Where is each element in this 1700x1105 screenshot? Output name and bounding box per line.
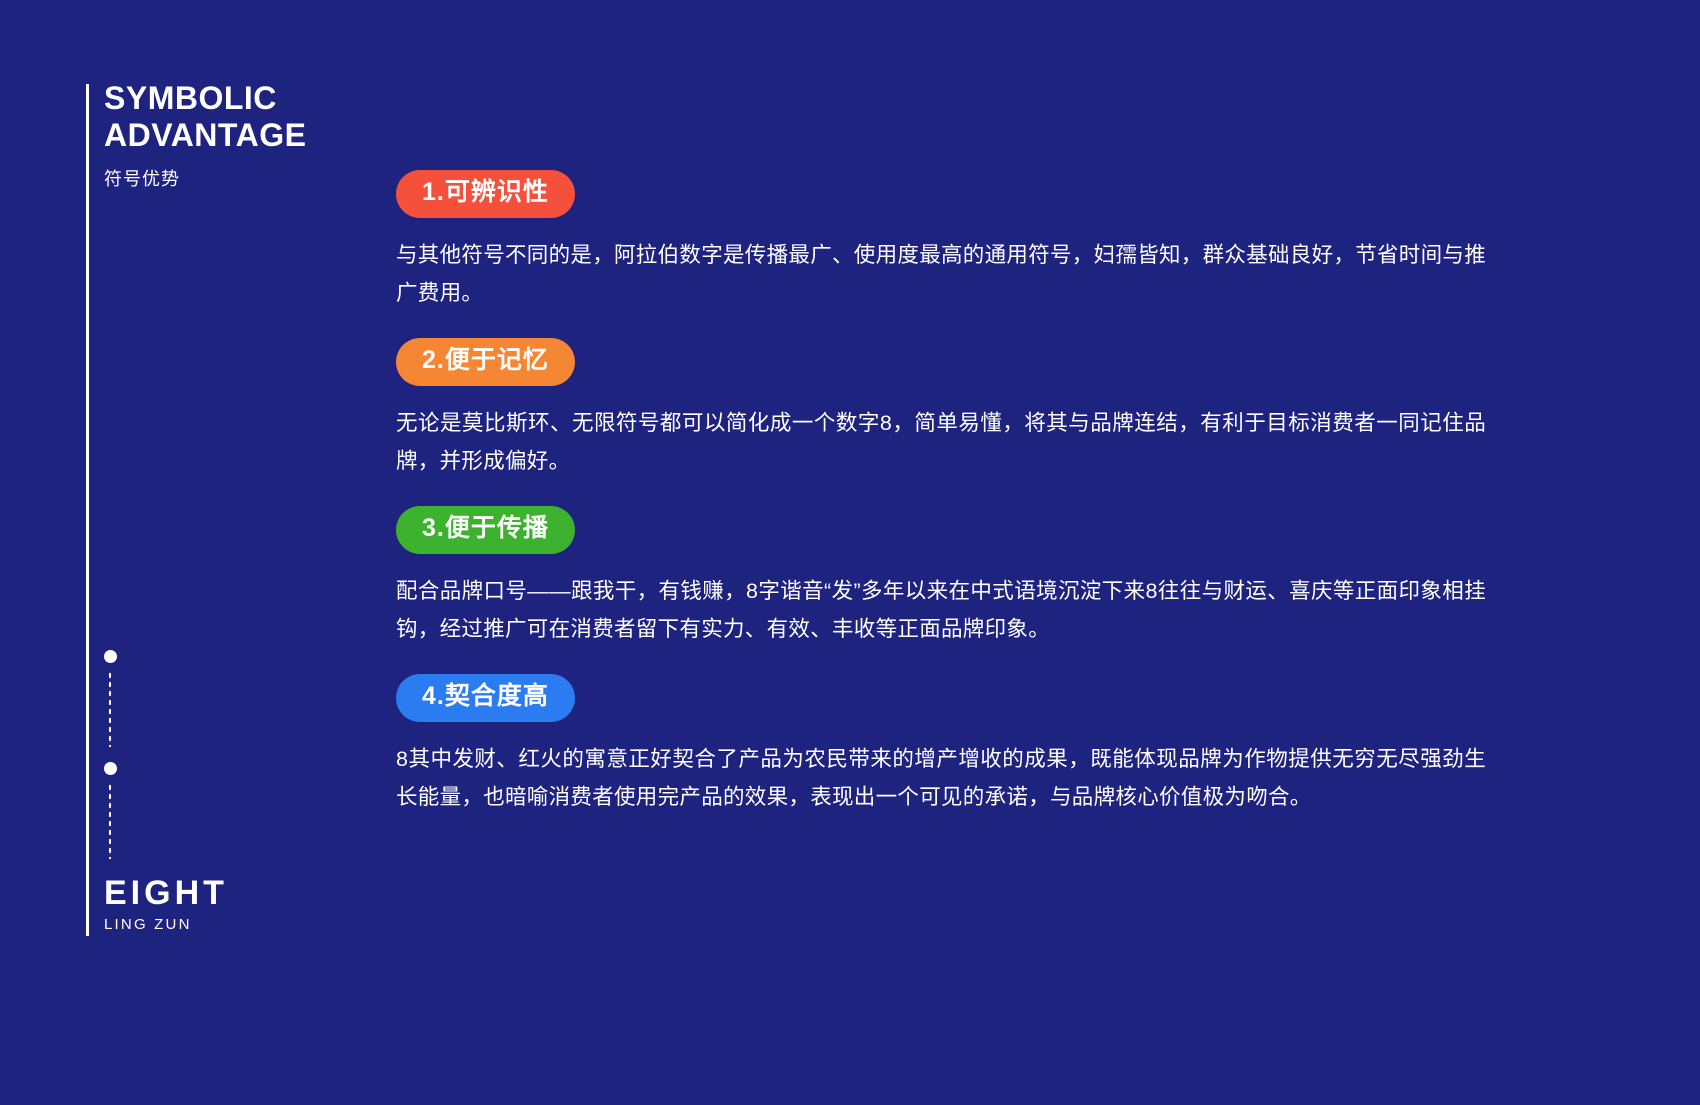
brand-block: EIGHT LING ZUN [104,875,228,933]
left-rail: SYMBOLIC ADVANTAGE 符号优势 EIGHT LING ZUN [0,0,400,1105]
vertical-divider-line [86,84,89,936]
brand-name: EIGHT [104,875,228,912]
section-badge-1: 1.可辨识性 [396,170,575,218]
section-badge-4: 4.契合度高 [396,674,575,722]
page-title-chinese: 符号优势 [104,165,394,191]
brand-subtitle: LING ZUN [104,916,228,933]
section-4: 4.契合度高 8其中发财、红火的寓意正好契合了产品为农民带来的增产增收的成果，既… [396,674,1486,816]
section-body-2: 无论是莫比斯环、无限符号都可以简化成一个数字8，简单易懂，将其与品牌连结，有利于… [396,404,1486,481]
dotted-trail-icon [108,671,112,747]
section-3: 3.便于传播 配合品牌口号——跟我干，有钱赚，8字谐音“发”多年以来在中式语境沉… [396,506,1486,648]
decorative-dot-marker-2 [104,762,117,859]
content-column: 1.可辨识性 与其他符号不同的是，阿拉伯数字是传播最广、使用度最高的通用符号，妇… [396,170,1486,816]
dotted-trail-icon [108,783,112,859]
section-body-1: 与其他符号不同的是，阿拉伯数字是传播最广、使用度最高的通用符号，妇孺皆知，群众基… [396,236,1486,313]
section-badge-2: 2.便于记忆 [396,338,575,386]
page-title-block: SYMBOLIC ADVANTAGE 符号优势 [104,80,394,191]
section-body-4: 8其中发财、红火的寓意正好契合了产品为农民带来的增产增收的成果，既能体现品牌为作… [396,740,1486,817]
page-title-english: SYMBOLIC ADVANTAGE [104,80,394,155]
section-body-3: 配合品牌口号——跟我干，有钱赚，8字谐音“发”多年以来在中式语境沉淀下来8往往与… [396,572,1486,649]
section-2: 2.便于记忆 无论是莫比斯环、无限符号都可以简化成一个数字8，简单易懂，将其与品… [396,338,1486,480]
dot-icon [104,762,117,775]
section-badge-3: 3.便于传播 [396,506,575,554]
dot-icon [104,650,117,663]
section-1: 1.可辨识性 与其他符号不同的是，阿拉伯数字是传播最广、使用度最高的通用符号，妇… [396,170,1486,312]
decorative-dot-marker-1 [104,650,117,747]
